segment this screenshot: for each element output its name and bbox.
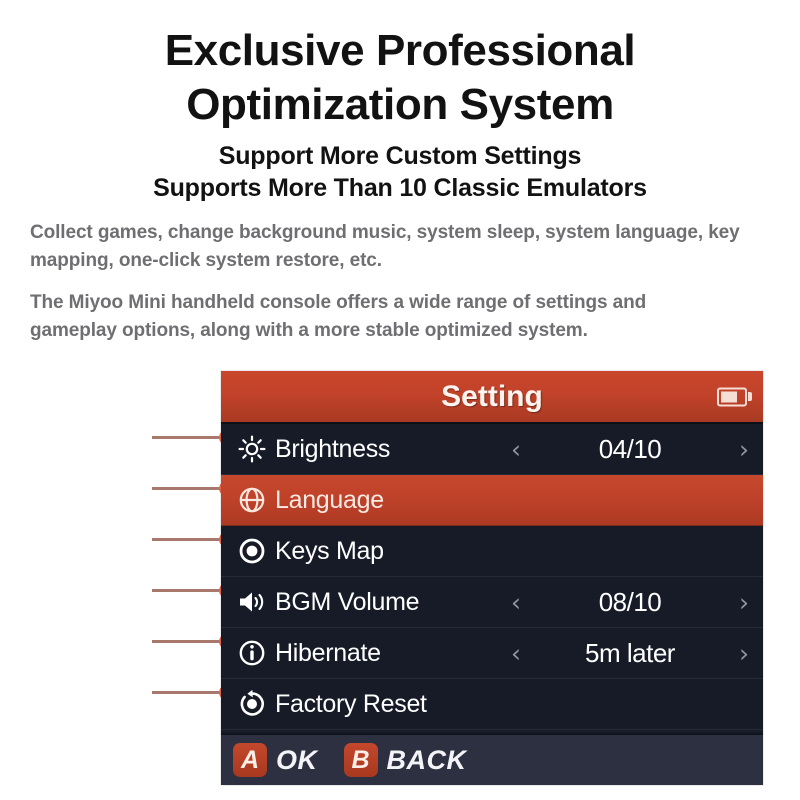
globe-icon — [229, 485, 275, 515]
chevron-left-icon[interactable]: ‹ — [505, 437, 527, 462]
menu-item-label: BGM Volume — [275, 588, 419, 617]
menu-item-label: Hibernate — [275, 639, 381, 668]
menu-item-label: Brightness — [275, 435, 390, 464]
key-badge-a: A — [233, 743, 267, 777]
page-subheadline: Support More Custom Settings Supports Mo… — [0, 140, 800, 204]
headline-line-2: Optimization System — [0, 78, 800, 132]
footer-button-ok[interactable]: A OK — [233, 743, 318, 777]
menu-item-brightness[interactable]: Brightness ‹ 04/10 › — [221, 424, 763, 475]
callout-leader-lines — [0, 360, 240, 760]
keys-map-icon — [229, 536, 275, 566]
leader-line-hibernate — [152, 640, 224, 643]
page-headline: Exclusive Professional Optimization Syst… — [0, 24, 800, 132]
chevron-left-icon[interactable]: ‹ — [505, 641, 527, 666]
battery-fill — [721, 391, 737, 402]
menu-item-label: Keys Map — [275, 537, 384, 566]
menu-item-hibernate[interactable]: Hibernate ‹ 5m later › — [221, 628, 763, 679]
leader-line-brightness — [152, 436, 224, 439]
chevron-right-icon[interactable]: › — [733, 437, 755, 462]
screen-footer: A OK B BACK — [221, 733, 763, 785]
key-badge-b: B — [344, 743, 378, 777]
settings-menu-list: Brightness ‹ 04/10 › Language — [221, 424, 763, 730]
battery-icon — [717, 387, 747, 406]
bgm-volume-value: 08/10 — [527, 587, 733, 618]
subhead-line-1: Support More Custom Settings — [0, 140, 800, 172]
menu-item-factory-reset[interactable]: Factory Reset — [221, 679, 763, 730]
key-action-back: BACK — [387, 745, 467, 776]
leader-line-factory-reset — [152, 691, 224, 694]
menu-item-language[interactable]: Language — [221, 475, 763, 526]
leader-line-language — [152, 487, 224, 490]
description-paragraph-2: The Miyoo Mini handheld console offers a… — [30, 289, 730, 345]
factory-reset-icon — [229, 689, 275, 719]
subhead-line-2: Supports More Than 10 Classic Emulators — [0, 172, 800, 204]
menu-item-bgm-volume[interactable]: BGM Volume ‹ 08/10 › — [221, 577, 763, 628]
device-screen: Setting Brightness ‹ 04/10 — [221, 371, 763, 785]
chevron-right-icon[interactable]: › — [733, 641, 755, 666]
description-paragraph-1: Collect games, change background music, … — [30, 219, 775, 275]
info-icon — [229, 638, 275, 668]
speaker-icon — [229, 588, 275, 616]
brightness-sun-icon — [229, 435, 275, 463]
chevron-right-icon[interactable]: › — [733, 590, 755, 615]
menu-item-label: Factory Reset — [275, 690, 427, 719]
leader-line-keys-map — [152, 538, 224, 541]
leader-line-bgm-volume — [152, 589, 224, 592]
chevron-left-icon[interactable]: ‹ — [505, 590, 527, 615]
brightness-value: 04/10 — [527, 434, 733, 465]
hibernate-value: 5m later — [527, 638, 733, 669]
hibernate-stepper[interactable]: ‹ 5m later › — [505, 638, 755, 669]
screen-header: Setting — [221, 371, 763, 424]
menu-item-label: Language — [275, 486, 384, 515]
menu-item-keys-map[interactable]: Keys Map — [221, 526, 763, 577]
brightness-stepper[interactable]: ‹ 04/10 › — [505, 434, 755, 465]
headline-line-1: Exclusive Professional — [0, 24, 800, 78]
footer-button-back[interactable]: B BACK — [344, 743, 467, 777]
screen-title: Setting — [441, 380, 543, 414]
bgm-volume-stepper[interactable]: ‹ 08/10 › — [505, 587, 755, 618]
key-action-ok: OK — [276, 745, 318, 776]
